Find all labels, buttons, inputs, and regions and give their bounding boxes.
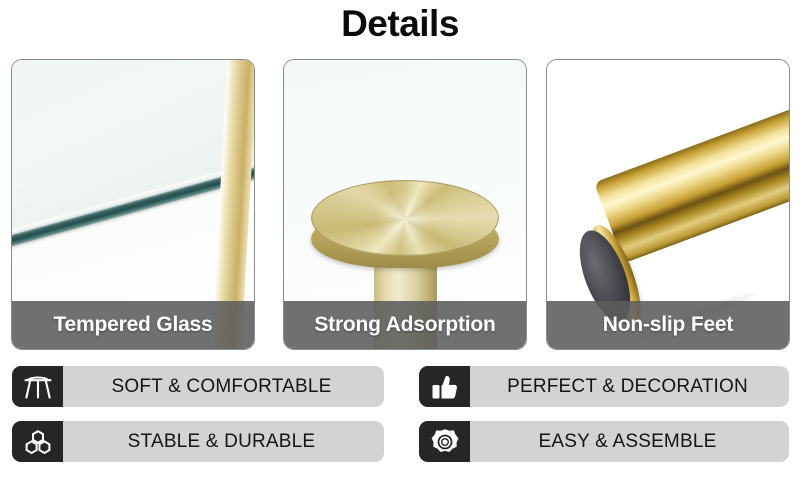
detail-card-tempered-glass[interactable]: Tempered Glass (11, 59, 255, 350)
detail-card-non-slip-feet[interactable]: Non-slip Feet (546, 59, 790, 350)
detail-cards-row: Tempered Glass Strong Adsorption Non-sli… (0, 59, 800, 351)
page-title: Details (0, 2, 800, 46)
feature-label: STABLE & DURABLE (63, 431, 384, 453)
details-infographic: Details Tempered Glass Strong Adsorption (0, 0, 800, 495)
feature-badge-soft-comfortable[interactable]: SOFT & COMFORTABLE (12, 366, 384, 407)
card-caption: Tempered Glass (12, 301, 254, 349)
card-caption: Non-slip Feet (547, 301, 789, 349)
honeycomb-icon (12, 421, 63, 462)
thumbs-up-icon (419, 366, 470, 407)
feature-label: EASY & ASSEMBLE (470, 431, 789, 453)
card-caption: Strong Adsorption (284, 301, 526, 349)
feature-badge-easy-assemble[interactable]: EASY & ASSEMBLE (419, 421, 789, 462)
feature-badge-perfect-decoration[interactable]: PERFECT & DECORATION (419, 366, 789, 407)
gear-icon (419, 421, 470, 462)
table-stool-icon (12, 366, 63, 407)
feature-label: PERFECT & DECORATION (470, 376, 789, 398)
feature-badge-stable-durable[interactable]: STABLE & DURABLE (12, 421, 384, 462)
feature-label: SOFT & COMFORTABLE (63, 376, 384, 398)
detail-card-strong-adsorption[interactable]: Strong Adsorption (283, 59, 527, 350)
feature-badges: SOFT & COMFORTABLE PERFECT & DECORATION … (0, 366, 800, 488)
